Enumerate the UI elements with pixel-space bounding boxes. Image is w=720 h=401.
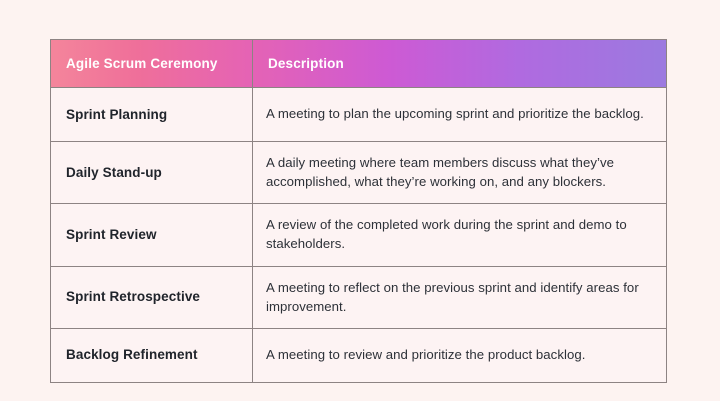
- cell-description: A meeting to reflect on the previous spr…: [253, 266, 667, 328]
- agile-scrum-ceremony-table: Agile Scrum Ceremony Description Sprint …: [50, 39, 667, 383]
- cell-ceremony: Sprint Retrospective: [51, 266, 253, 328]
- cell-ceremony: Sprint Review: [51, 204, 253, 266]
- table-row: Sprint Planning A meeting to plan the up…: [51, 88, 667, 142]
- table-row: Sprint Retrospective A meeting to reflec…: [51, 266, 667, 328]
- column-header-ceremony: Agile Scrum Ceremony: [51, 40, 253, 88]
- cell-description: A meeting to plan the upcoming sprint an…: [253, 88, 667, 142]
- cell-description: A daily meeting where team members discu…: [253, 142, 667, 204]
- cell-description: A review of the completed work during th…: [253, 204, 667, 266]
- cell-ceremony: Backlog Refinement: [51, 328, 253, 382]
- cell-ceremony: Sprint Planning: [51, 88, 253, 142]
- cell-ceremony: Daily Stand-up: [51, 142, 253, 204]
- column-header-description: Description: [253, 40, 667, 88]
- table-header-row: Agile Scrum Ceremony Description: [51, 40, 667, 88]
- table-header: Agile Scrum Ceremony Description: [51, 40, 667, 88]
- table-row: Daily Stand-up A daily meeting where tea…: [51, 142, 667, 204]
- table-container: Agile Scrum Ceremony Description Sprint …: [50, 39, 666, 383]
- page-root: Agile Scrum Ceremony Description Sprint …: [0, 0, 720, 401]
- table-row: Sprint Review A review of the completed …: [51, 204, 667, 266]
- cell-description: A meeting to review and prioritize the p…: [253, 328, 667, 382]
- table-row: Backlog Refinement A meeting to review a…: [51, 328, 667, 382]
- table-body: Sprint Planning A meeting to plan the up…: [51, 88, 667, 383]
